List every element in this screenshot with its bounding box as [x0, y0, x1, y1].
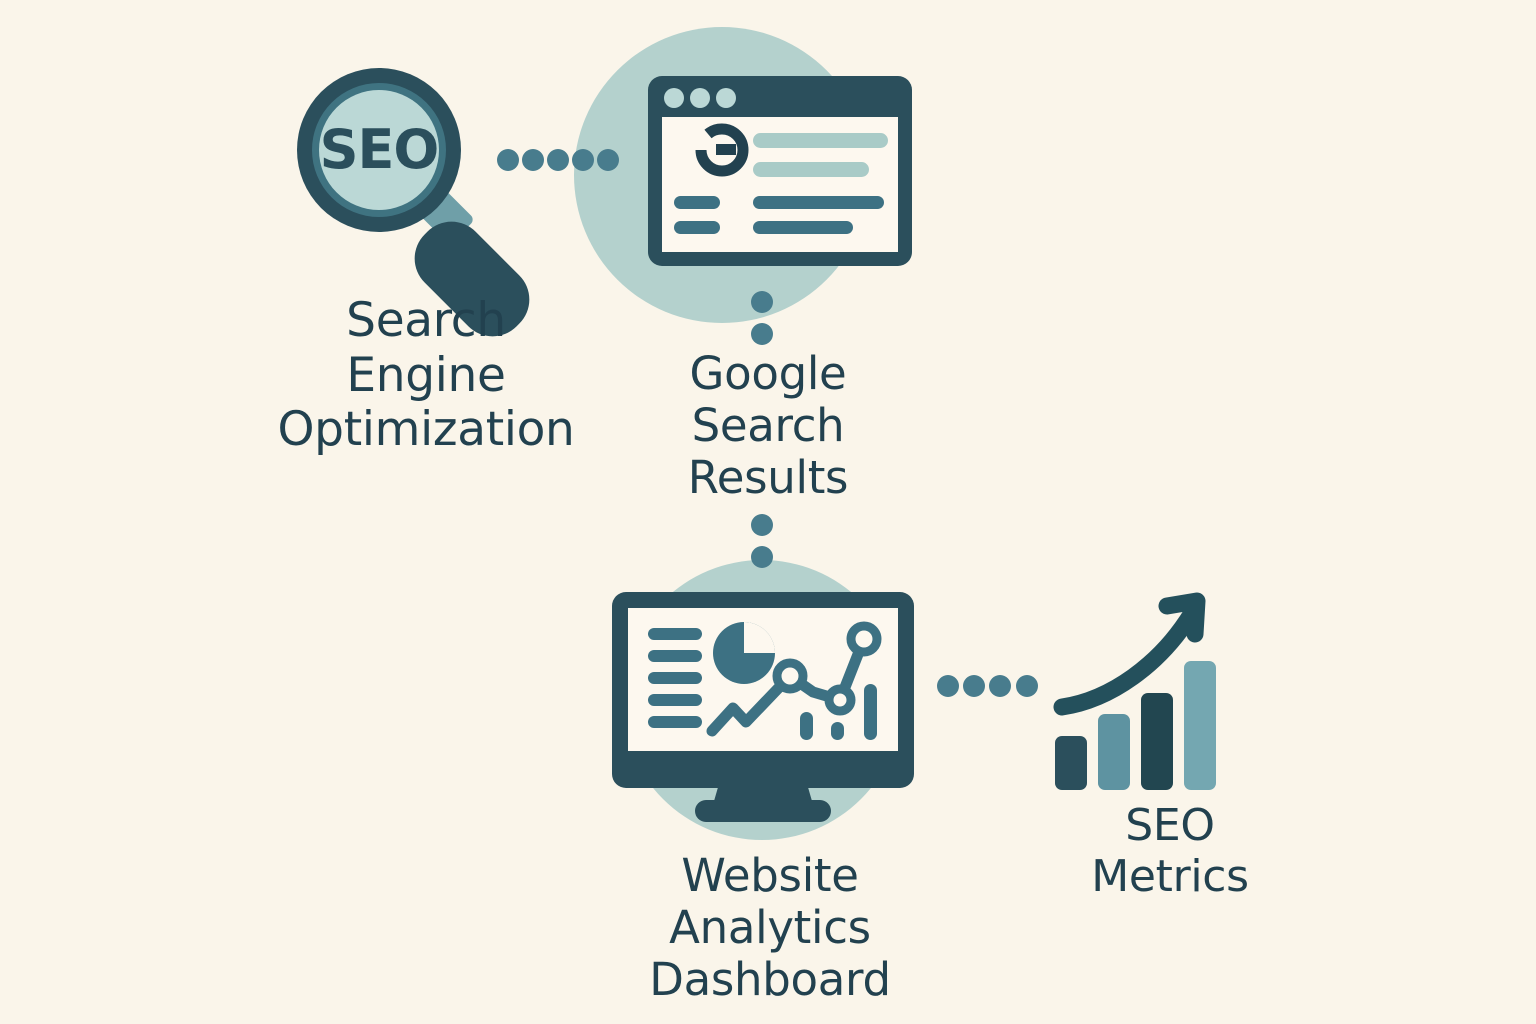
label-search-engine-optimization: Search Engine Optimization [246, 294, 606, 458]
browser-result-line [674, 196, 720, 209]
browser-dot-minimize-icon[interactable] [690, 88, 710, 108]
connector-dot [989, 675, 1011, 697]
mini-bar [864, 684, 877, 740]
diagram-canvas: SEO [0, 0, 1536, 1024]
google-g-bar [716, 144, 736, 155]
growth-arrow-curve [1062, 613, 1192, 707]
connector-dot [497, 149, 519, 171]
label-google-search-results: Google Search Results [618, 348, 918, 505]
connector-dot [751, 323, 773, 345]
dashboard-list-line [648, 716, 702, 728]
connector-dot [963, 675, 985, 697]
dashboard-list-line [648, 672, 702, 684]
label-seo-metrics: SEO Metrics [1010, 800, 1330, 902]
dashboard-list-line [648, 694, 702, 706]
connector-dot [597, 149, 619, 171]
desktop-monitor-icon[interactable] [612, 592, 914, 822]
dashboard-pie-chart [713, 622, 775, 684]
connector-seo-to-google [497, 149, 619, 171]
label-website-analytics-dashboard: Website Analytics Dashboard [610, 850, 930, 1007]
browser-result-line [753, 162, 869, 177]
connector-dot [751, 546, 773, 568]
monitor-stand-base [695, 800, 831, 822]
connector-dot [751, 514, 773, 536]
browser-result-line [753, 133, 888, 148]
connector-dot [522, 149, 544, 171]
connector-dot [937, 675, 959, 697]
metrics-bar-4 [1184, 661, 1216, 790]
magnifier-seo-text: SEO [320, 118, 439, 181]
metrics-bar-2 [1098, 714, 1130, 790]
browser-dot-close-icon[interactable] [664, 88, 684, 108]
bar-chart-growth-icon[interactable] [1055, 601, 1216, 790]
line-chart-node [777, 663, 803, 689]
line-chart-node [851, 626, 877, 652]
browser-result-line [753, 221, 853, 234]
mini-bar [831, 722, 844, 740]
connector-dot [751, 291, 773, 313]
connector-dot [572, 149, 594, 171]
browser-result-line [674, 221, 720, 234]
connector-dashboard-to-metrics [937, 675, 1038, 697]
metrics-bar-3 [1141, 693, 1173, 790]
dashboard-list-line [648, 628, 702, 640]
browser-result-line [753, 196, 884, 209]
browser-dot-maximize-icon[interactable] [716, 88, 736, 108]
connector-dot [1016, 675, 1038, 697]
browser-window-icon[interactable] [648, 76, 912, 266]
metrics-bar-1 [1055, 736, 1087, 790]
connector-dot [547, 149, 569, 171]
mini-bar [800, 712, 813, 740]
dashboard-list-line [648, 650, 702, 662]
connector-label-to-dashboard [751, 514, 773, 568]
line-chart-node [829, 689, 851, 711]
